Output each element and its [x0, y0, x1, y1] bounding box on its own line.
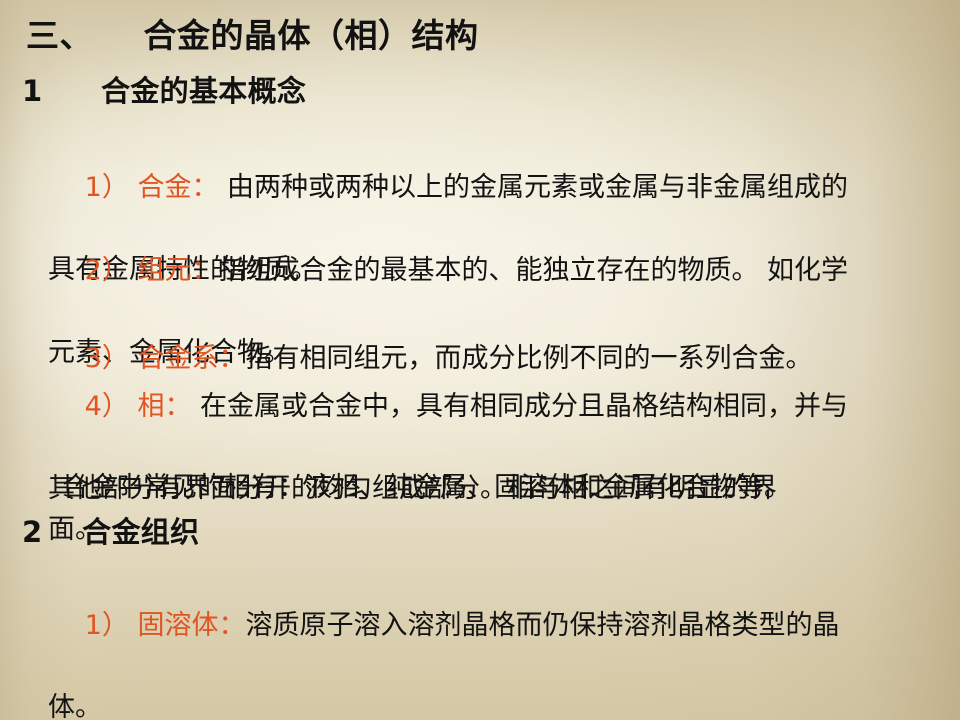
section-heading-1: 1 合金的基本概念: [22, 73, 306, 109]
list-term: 相：: [137, 391, 191, 422]
list-marker: 1）: [85, 172, 129, 203]
list-marker: 4）: [85, 391, 129, 422]
list-item: 1） 固溶体：溶质原子溶入溶剂晶格而仍保持溶剂晶格类型的晶 体。: [16, 564, 934, 720]
list-text-line: 指组成合金的最基本的、能独立存在的物质。 如化学: [218, 255, 848, 286]
list-text-line: 由两种或两种以上的金属元素或金属与非金属组成的: [227, 172, 848, 203]
list-text-line: 溶质原子溶入溶剂晶格而仍保持溶剂晶格类型的晶: [245, 610, 839, 641]
slide-content: 三、 合金的晶体（相）结构 1 合金的基本概念 1） 合金： 由两种或两种以上的…: [0, 0, 960, 720]
slide-main-title: 三、 合金的晶体（相）结构: [26, 16, 479, 56]
list-term: 固溶体：: [137, 610, 245, 641]
slide-canvas: 三、 合金的晶体（相）结构 1 合金的基本概念 1） 合金： 由两种或两种以上的…: [0, 0, 960, 720]
list-term: 合金：: [137, 172, 218, 203]
list-marker: 2）: [85, 255, 129, 286]
list-text-line: 在金属或合金中，具有相同成分且晶格结构相同，并与: [200, 391, 848, 422]
note-paragraph: 合金中常见的相有：液相、纯金属、固溶体和金属化合物等。: [16, 467, 934, 508]
section-heading-2: 2 合金组织: [22, 514, 199, 550]
list-term: 组元：: [137, 255, 218, 286]
list-text-line: 体。: [16, 687, 934, 720]
list-marker: 1）: [85, 610, 129, 641]
note-text: 合金中常见的相有：液相、纯金属、固溶体和金属化合物等。: [16, 467, 934, 508]
